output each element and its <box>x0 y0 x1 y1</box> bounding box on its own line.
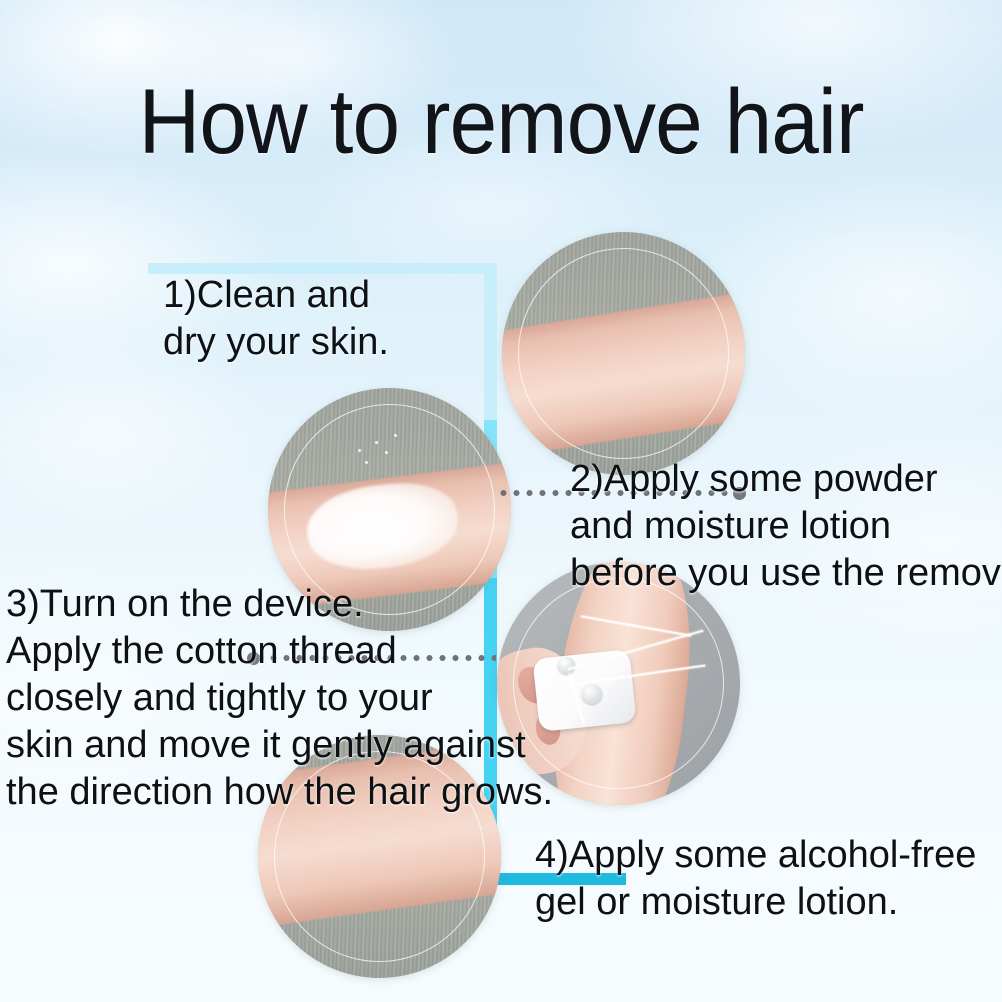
step-3-line-4: skin and move it gently against <box>6 722 553 769</box>
step-2-line-2: and moisture lotion <box>570 503 1002 550</box>
step-3-text: 3)Turn on the device. Apply the cotton t… <box>6 581 553 816</box>
step-3-line-5: the direction how the hair grows. <box>6 769 553 816</box>
photo-content <box>502 232 745 475</box>
step-1-text: 1)Clean and dry your skin. <box>163 272 389 366</box>
step-4-line-2: gel or moisture lotion. <box>535 879 976 926</box>
page-title: How to remove hair <box>35 72 967 172</box>
clean-dry-skin-photo <box>502 232 745 475</box>
step-4-line-1: 4)Apply some alcohol-free <box>535 832 976 879</box>
step-2-text: 2)Apply some powder and moisture lotion … <box>570 456 1002 597</box>
powder-speck <box>358 449 361 452</box>
step-3-line-2: Apply the cotton thread <box>6 628 553 675</box>
device-knob <box>582 684 602 704</box>
step-2-line-3: before you use the remove <box>570 550 1002 597</box>
infographic-poster: How to remove hair <box>0 0 1002 1002</box>
step-1-line-2: dry your skin. <box>163 319 389 366</box>
step-3-line-3: closely and tightly to your <box>6 675 553 722</box>
step-2-line-1: 2)Apply some powder <box>570 456 1002 503</box>
step-4-text: 4)Apply some alcohol-free gel or moistur… <box>535 832 976 926</box>
step-1-line-1: 1)Clean and <box>163 272 389 319</box>
device-knob <box>558 657 575 674</box>
step-3-line-1: 3)Turn on the device. <box>6 581 553 628</box>
powder-speck <box>385 451 388 454</box>
